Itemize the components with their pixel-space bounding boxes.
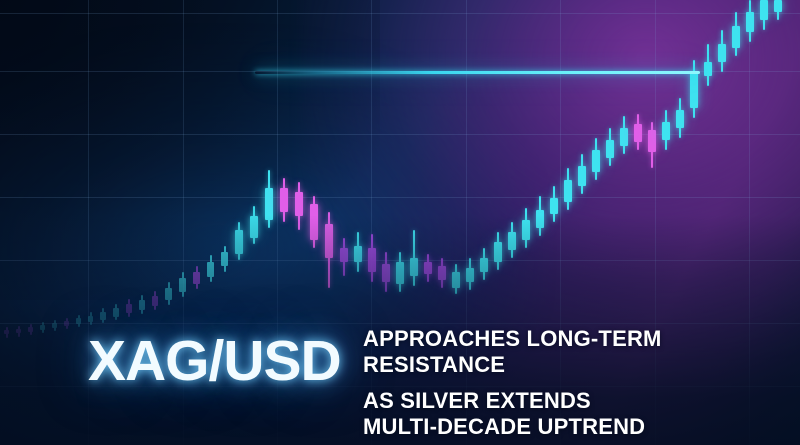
headline-line: MULTI-DECADE UPTREND	[363, 414, 662, 440]
headline: APPROACHES LONG-TERMRESISTANCEAS SILVER …	[363, 326, 662, 440]
candlestick-body	[606, 140, 614, 158]
candlestick-body	[648, 130, 656, 152]
candlestick-body	[746, 12, 754, 32]
candlestick-body	[280, 188, 288, 212]
candlestick-body	[732, 26, 740, 48]
candlestick-body	[704, 62, 712, 76]
candlestick-body	[718, 44, 726, 62]
candlestick-body	[620, 128, 628, 146]
candlestick-body	[592, 150, 600, 172]
candlestick-body	[760, 0, 768, 20]
candlestick-body	[295, 192, 303, 216]
candlestick-body	[578, 166, 586, 186]
headline-line: AS SILVER EXTENDS	[363, 388, 662, 414]
headline-line: APPROACHES LONG-TERM	[363, 326, 662, 352]
ticker-symbol: XAG/USD	[88, 333, 341, 390]
headline-line: RESISTANCE	[363, 352, 662, 378]
candlestick-body	[550, 198, 558, 214]
headline-spacer	[363, 377, 662, 388]
candlestick-body	[634, 124, 642, 142]
candlestick-body	[662, 122, 670, 140]
banner-image: XAG/USD APPROACHES LONG-TERMRESISTANCEAS…	[0, 0, 800, 445]
resistance-line	[255, 71, 700, 74]
candlestick-body	[676, 110, 684, 128]
candlestick-body	[690, 72, 698, 108]
candlestick-body	[774, 0, 782, 12]
candlestick-body	[564, 180, 572, 202]
